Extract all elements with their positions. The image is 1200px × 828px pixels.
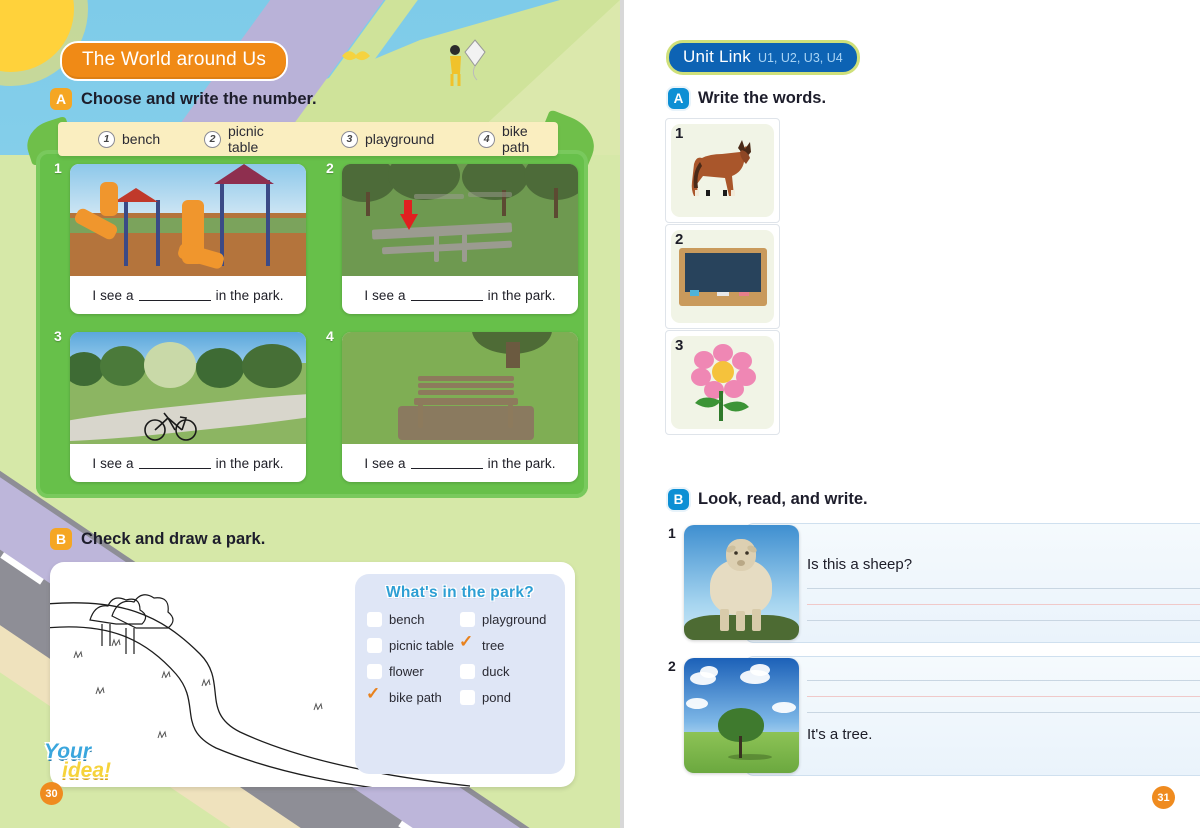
word-bank-number: 2 — [204, 131, 221, 148]
checklist-label: bench — [389, 612, 424, 627]
answer-text-1: Is this a sheep? — [807, 556, 912, 573]
card-caption: I see a in the park. — [70, 276, 306, 314]
checklist-label: duck — [482, 664, 509, 679]
picture-card-bike-path[interactable]: I see a in the park. — [70, 332, 306, 482]
checklist-label: bike path — [389, 690, 442, 705]
right-page: Unit Link U1, U2, U3, U4 A Write the wor… — [624, 0, 1200, 828]
checkbox-bench[interactable] — [367, 612, 382, 627]
word-bank-label: playground — [365, 131, 434, 147]
left-page: The World around Us A Choose and write t… — [0, 0, 620, 828]
checklist-item-picnic-table[interactable]: picnic table — [367, 638, 460, 653]
card-caption: I see a in the park. — [70, 444, 306, 482]
checklist-item-playground[interactable]: playground — [460, 612, 553, 627]
item-number: 2 — [668, 658, 676, 674]
word-card-number: 1 — [675, 125, 683, 142]
answer-blank[interactable] — [139, 457, 211, 469]
activity-a-heading: A Choose and write the number. — [50, 88, 317, 110]
checklist-item-bench[interactable]: bench — [367, 612, 460, 627]
checkbox-tree[interactable] — [460, 638, 475, 653]
right-activity-a-badge: A — [668, 88, 689, 109]
checkbox-flower[interactable] — [367, 664, 382, 679]
tree-photo — [684, 658, 799, 773]
word-bank-label: bike path — [502, 123, 558, 155]
checklist-item-tree[interactable]: tree — [460, 638, 553, 653]
writing-lines-2[interactable] — [807, 680, 1200, 720]
workbook-spread: The World around Us A Choose and write t… — [0, 0, 1200, 828]
drawing-panel[interactable]: What's in the park? bench playground pic… — [50, 562, 575, 787]
checkbox-bike-path[interactable] — [367, 690, 382, 705]
photo-panel: 1 — [36, 150, 588, 498]
picnic-table-photo — [342, 164, 578, 276]
word-card-board[interactable]: 2 — [665, 224, 780, 329]
word-bank-label: bench — [122, 131, 160, 147]
card-number: 3 — [54, 328, 62, 344]
flower-illustration — [684, 343, 762, 423]
bike-path-photo — [70, 332, 306, 444]
board-illustration — [677, 246, 769, 308]
activity-b-badge: B — [50, 528, 72, 550]
right-activity-b-heading: B Look, read, and write. — [668, 489, 868, 510]
answer-text-2: It's a tree. — [807, 726, 872, 743]
answer-blank[interactable] — [411, 457, 483, 469]
activity-a-title: Choose and write the number. — [81, 90, 317, 109]
checklist-label: pond — [482, 690, 511, 705]
person-decoration — [440, 42, 480, 88]
right-activity-b-badge: B — [668, 489, 689, 510]
page-number-right: 31 — [1152, 786, 1175, 809]
word-bank-number: 4 — [478, 131, 495, 148]
caption-after: in the park. — [488, 456, 556, 471]
unit-link-badge: Unit Link U1, U2, U3, U4 — [666, 40, 860, 75]
activity-a-badge: A — [50, 88, 72, 110]
card-caption: I see a in the park. — [342, 276, 578, 314]
writing-lines-1[interactable] — [807, 588, 1200, 628]
checkbox-picnic-table[interactable] — [367, 638, 382, 653]
activity-b-title: Check and draw a park. — [81, 530, 265, 549]
checklist-panel: What's in the park? bench playground pic… — [355, 574, 565, 774]
bench-photo — [342, 332, 578, 444]
word-card-flower[interactable]: 3 — [665, 330, 780, 435]
unit-link-label: Unit Link — [683, 47, 751, 67]
your-idea-line2: idea! — [62, 761, 111, 780]
caption-before: I see a — [92, 456, 133, 471]
right-activity-a-heading: A Write the words. — [668, 88, 826, 109]
item-number: 1 — [668, 525, 676, 541]
checklist-item-bike-path[interactable]: bike path — [367, 690, 460, 705]
unit-link-units: U1, U2, U3, U4 — [758, 51, 843, 65]
caption-after: in the park. — [216, 288, 284, 303]
checklist-title: What's in the park? — [367, 584, 553, 602]
activity-b-heading: B Check and draw a park. — [50, 528, 265, 550]
sheep-photo — [684, 525, 799, 640]
caption-before: I see a — [364, 456, 405, 471]
checkbox-duck[interactable] — [460, 664, 475, 679]
horse-illustration — [680, 136, 766, 206]
word-card-number: 3 — [675, 337, 683, 354]
answer-blank[interactable] — [139, 289, 211, 301]
card-caption: I see a in the park. — [342, 444, 578, 482]
caption-before: I see a — [92, 288, 133, 303]
answer-blank[interactable] — [411, 289, 483, 301]
picture-card-bench[interactable]: I see a in the park. — [342, 332, 578, 482]
page-number-left: 30 — [40, 782, 63, 805]
caption-after: in the park. — [488, 288, 556, 303]
word-bank: 1 bench 2 picnic table 3 playground 4 bi… — [58, 122, 558, 156]
checklist-label: picnic table — [389, 638, 454, 653]
card-number: 2 — [326, 160, 334, 176]
checklist-item-pond[interactable]: pond — [460, 690, 553, 705]
word-card-horse[interactable]: 1 — [665, 118, 780, 223]
word-bank-item: 2 picnic table — [204, 123, 297, 155]
checklist-label: flower — [389, 664, 424, 679]
card-number: 4 — [326, 328, 334, 344]
caption-before: I see a — [364, 288, 405, 303]
checklist-item-flower[interactable]: flower — [367, 664, 460, 679]
word-bank-number: 1 — [98, 131, 115, 148]
word-bank-item: 3 playground — [341, 131, 434, 148]
picture-card-playground[interactable]: I see a in the park. — [70, 164, 306, 314]
checkbox-playground[interactable] — [460, 612, 475, 627]
right-activity-a-title: Write the words. — [698, 89, 826, 108]
word-bank-number: 3 — [341, 131, 358, 148]
word-card-number: 2 — [675, 231, 683, 248]
checklist-label: playground — [482, 612, 546, 627]
playground-photo — [70, 164, 306, 276]
card-number: 1 — [54, 160, 62, 176]
checklist-item-duck[interactable]: duck — [460, 664, 553, 679]
word-bank-item: 4 bike path — [478, 123, 558, 155]
caption-after: in the park. — [216, 456, 284, 471]
your-idea-logo: Your idea! — [44, 742, 111, 781]
page-title: The World around Us — [60, 41, 288, 81]
checklist-label: tree — [482, 638, 504, 653]
word-bank-item: 1 bench — [98, 131, 160, 148]
checkbox-pond[interactable] — [460, 690, 475, 705]
word-bank-label: picnic table — [228, 123, 297, 155]
right-activity-b-title: Look, read, and write. — [698, 490, 868, 509]
picture-card-picnic-table[interactable]: I see a in the park. — [342, 164, 578, 314]
